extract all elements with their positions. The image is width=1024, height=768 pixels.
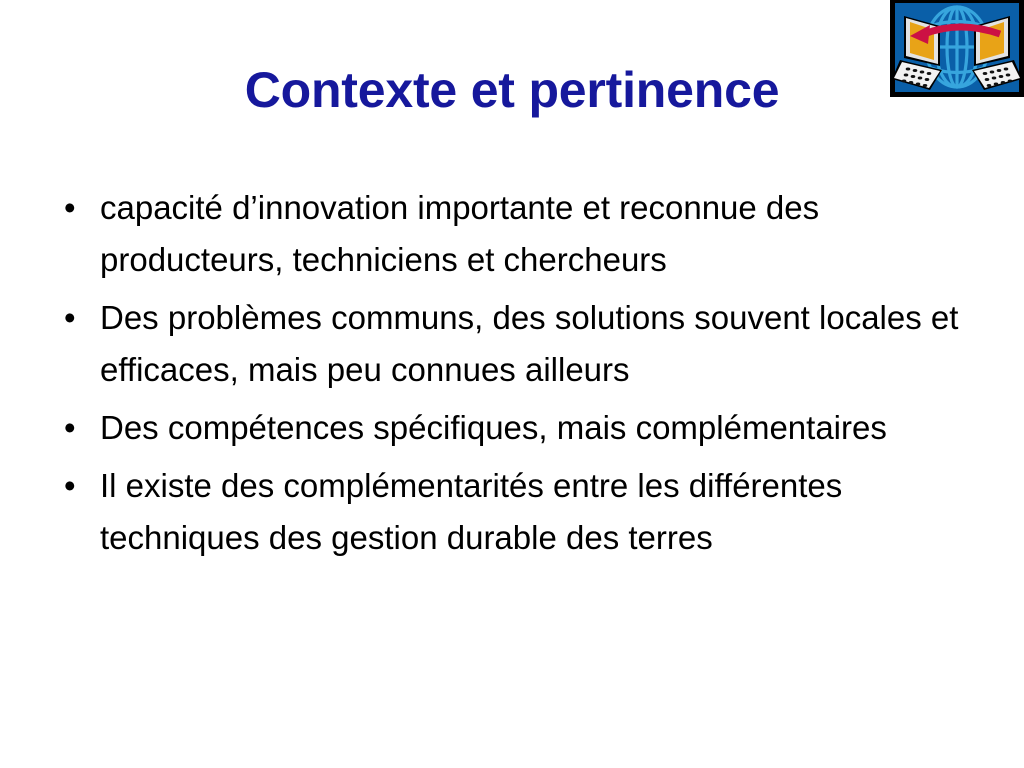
bullet-text: Des compétences spécifiques, mais complé… <box>100 402 990 454</box>
bullet-text: Des problèmes communs, des solutions sou… <box>100 292 990 396</box>
slide-canvas: Contexte et pertinence • capacité d’inno… <box>0 0 1024 768</box>
list-item: • Des compétences spécifiques, mais comp… <box>52 402 1000 454</box>
bullet-list: • capacité d’innovation importante et re… <box>52 182 1000 570</box>
list-item: • capacité d’innovation importante et re… <box>52 182 1000 286</box>
bullet-dot-icon: • <box>52 292 100 344</box>
page-title: Contexte et pertinence <box>0 62 1024 120</box>
bullet-dot-icon: • <box>52 460 100 512</box>
bullet-dot-icon: • <box>52 182 100 234</box>
list-item: • Il existe des complémentarités entre l… <box>52 460 1000 564</box>
bullet-text: capacité d’innovation importante et reco… <box>100 182 990 286</box>
bullet-text: Il existe des complémentarités entre les… <box>100 460 990 564</box>
list-item: • Des problèmes communs, des solutions s… <box>52 292 1000 396</box>
bullet-dot-icon: • <box>52 402 100 454</box>
